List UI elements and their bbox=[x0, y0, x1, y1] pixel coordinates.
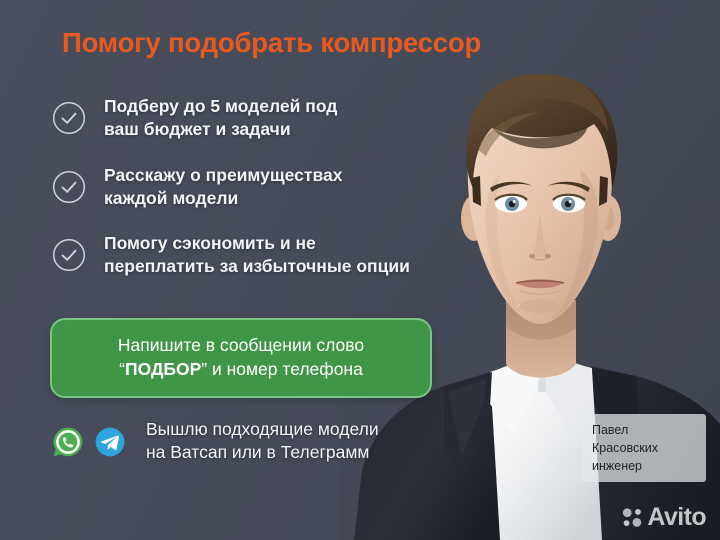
list-item: Подберу до 5 моделей под ваш бюджет и за… bbox=[52, 95, 410, 142]
badge-last-name: Красовских bbox=[592, 440, 706, 458]
person-name-badge: Павел Красовских инженер bbox=[582, 414, 706, 482]
telegram-icon[interactable] bbox=[94, 426, 126, 458]
cta-line-2: “ПОДБОР” и номер телефона bbox=[119, 358, 363, 382]
list-item-label: Расскажу о преимуществах каждой модели bbox=[104, 164, 342, 211]
whatsapp-icon[interactable] bbox=[52, 426, 84, 458]
avito-wordmark: Avito bbox=[647, 505, 706, 530]
cta-keyword: ПОДБОР bbox=[125, 359, 201, 379]
avito-watermark: Avito bbox=[622, 505, 706, 530]
benefits-list: Подберу до 5 моделей под ваш бюджет и за… bbox=[52, 95, 410, 301]
messenger-row: Вышлю подходящие модели на Ватсап или в … bbox=[52, 418, 379, 465]
messenger-icons bbox=[52, 426, 136, 458]
list-item: Помогу сэкономить и не переплатить за из… bbox=[52, 232, 410, 279]
badge-role: инженер bbox=[592, 458, 706, 476]
avito-dots-icon bbox=[622, 507, 643, 528]
call-to-action-box: Напишите в сообщении слово “ПОДБОР” и но… bbox=[50, 318, 432, 398]
badge-first-name: Павел bbox=[592, 422, 706, 440]
check-circle-icon bbox=[52, 170, 86, 204]
page-title: Помогу подобрать компрессор bbox=[62, 27, 481, 59]
check-circle-icon bbox=[52, 238, 86, 272]
list-item-label: Помогу сэкономить и не переплатить за из… bbox=[104, 232, 410, 279]
advertisement-banner: Помогу подобрать компрессор Подберу до 5… bbox=[0, 0, 720, 540]
check-circle-icon bbox=[52, 101, 86, 135]
cta-line-1: Напишите в сообщении слово bbox=[118, 334, 364, 358]
list-item: Расскажу о преимуществах каждой модели bbox=[52, 164, 410, 211]
cta-line-2-rest: и номер телефона bbox=[207, 359, 363, 379]
list-item-label: Подберу до 5 моделей под ваш бюджет и за… bbox=[104, 95, 337, 142]
messenger-label: Вышлю подходящие модели на Ватсап или в … bbox=[146, 418, 379, 465]
